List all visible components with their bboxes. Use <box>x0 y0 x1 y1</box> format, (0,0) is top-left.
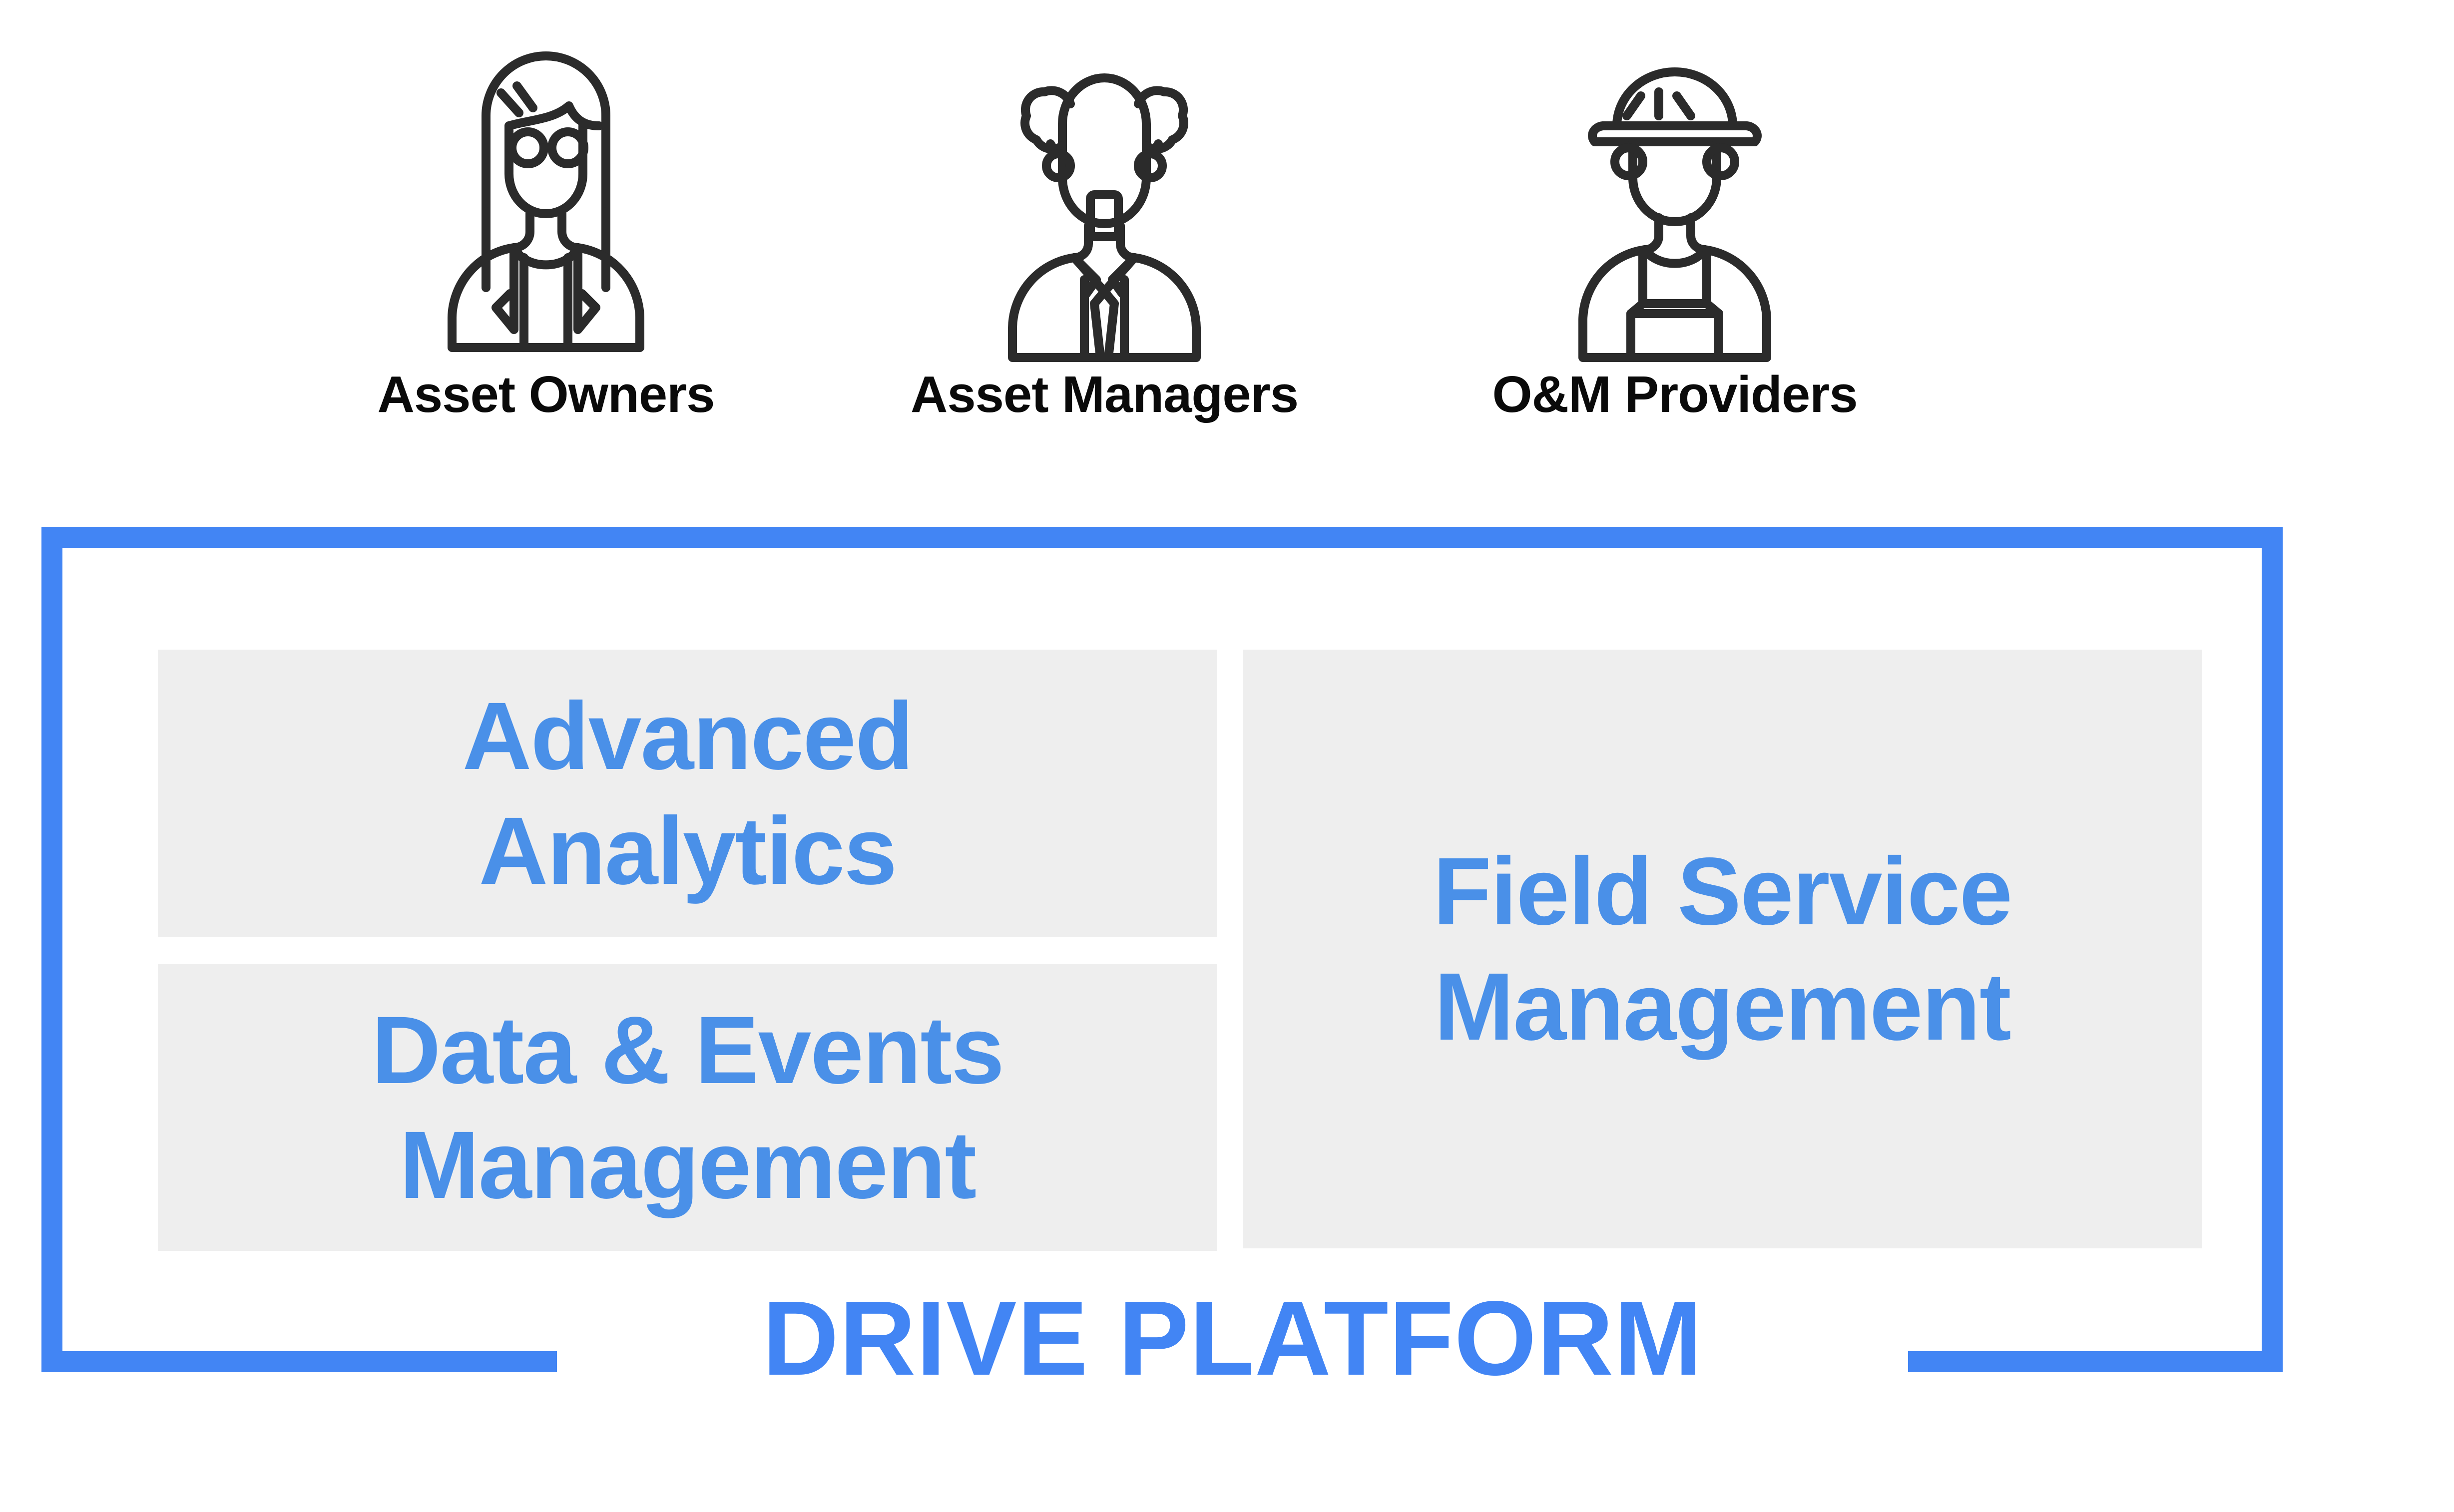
capability-label: AdvancedAnalytics <box>463 679 913 909</box>
persona-asset-owners: Asset Owners <box>321 30 771 420</box>
persona-label: Asset Managers <box>880 369 1329 420</box>
capability-box-data-events[interactable]: Data & EventsManagement <box>158 964 1217 1251</box>
drive-platform-wordmark: DRIVE PLATFORM <box>557 1285 1908 1391</box>
capability-label: Field ServiceManagement <box>1433 834 2012 1064</box>
worker-with-hardhat-icon <box>1555 30 1795 360</box>
persona-om-providers: O&M Providers <box>1450 30 1900 420</box>
capability-box-field-service[interactable]: Field ServiceManagement <box>1243 650 2202 1248</box>
persona-label: Asset Owners <box>321 369 771 420</box>
capability-label: Data & EventsManagement <box>372 993 1003 1223</box>
persona-asset-managers: Asset Managers <box>880 30 1329 420</box>
personas-row: Asset Owners <box>0 0 2454 449</box>
woman-with-glasses-icon <box>426 30 666 360</box>
bearded-man-in-suit-icon <box>984 30 1224 360</box>
persona-label: O&M Providers <box>1450 369 1900 420</box>
capability-box-advanced-analytics[interactable]: AdvancedAnalytics <box>158 650 1217 937</box>
